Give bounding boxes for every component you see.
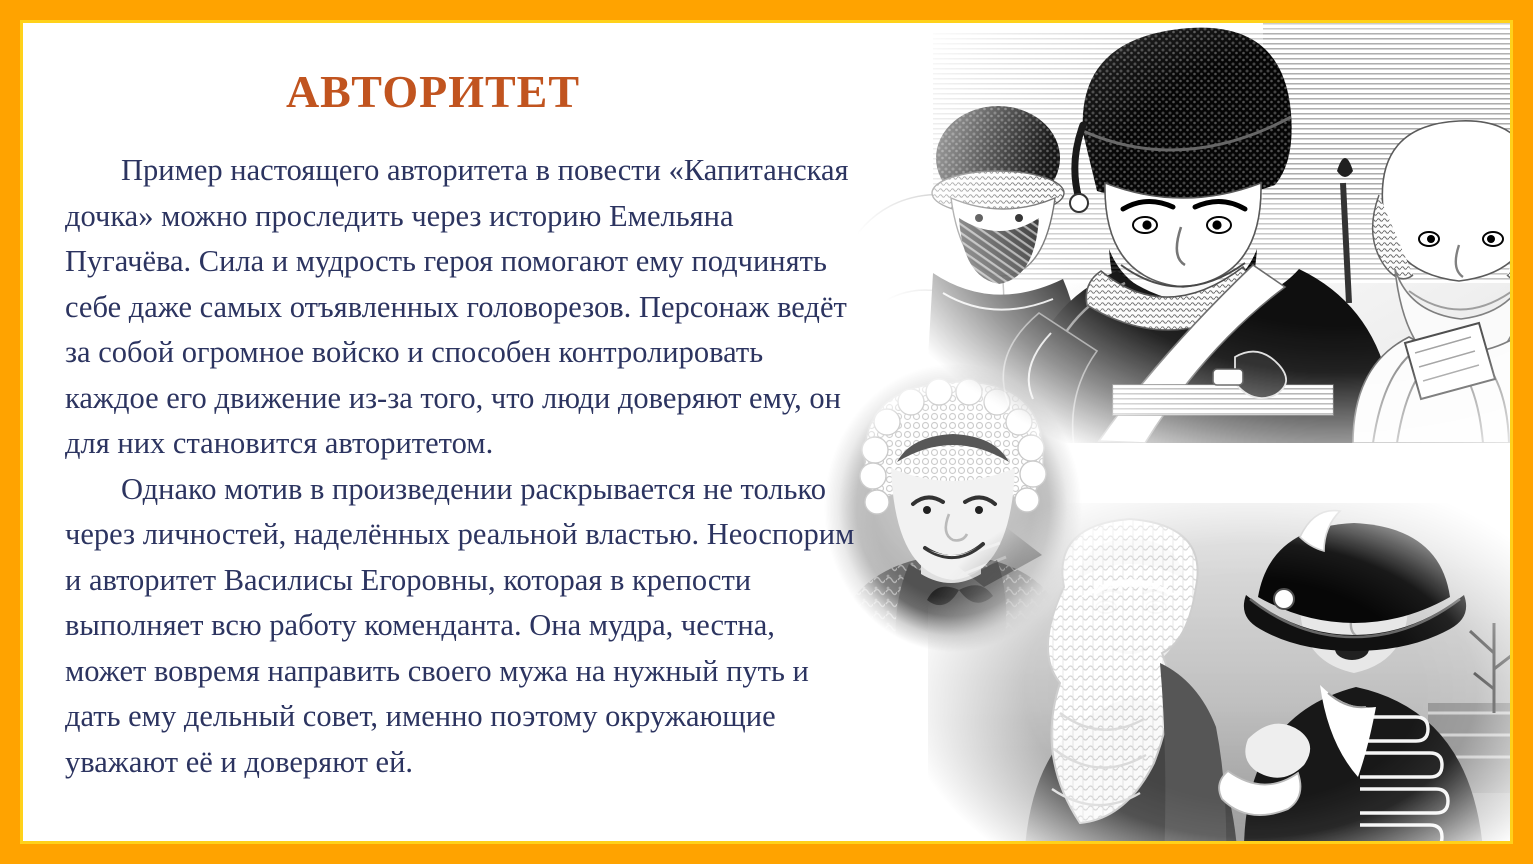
mironov-couple-film-still-image xyxy=(928,503,1510,841)
slide-canvas: АВТОРИТЕТ Пример настоящего авторитета в… xyxy=(23,23,1510,841)
paragraph-1: Пример настоящего авторитета в повести «… xyxy=(65,148,855,467)
page-title: АВТОРИТЕТ xyxy=(83,65,783,118)
body-text: Пример настоящего авторитета в повести «… xyxy=(65,148,855,785)
paragraph-2: Однако мотив в произведении раскрывается… xyxy=(65,467,855,786)
slide: АВТОРИТЕТ Пример настоящего авторитета в… xyxy=(0,0,1533,864)
